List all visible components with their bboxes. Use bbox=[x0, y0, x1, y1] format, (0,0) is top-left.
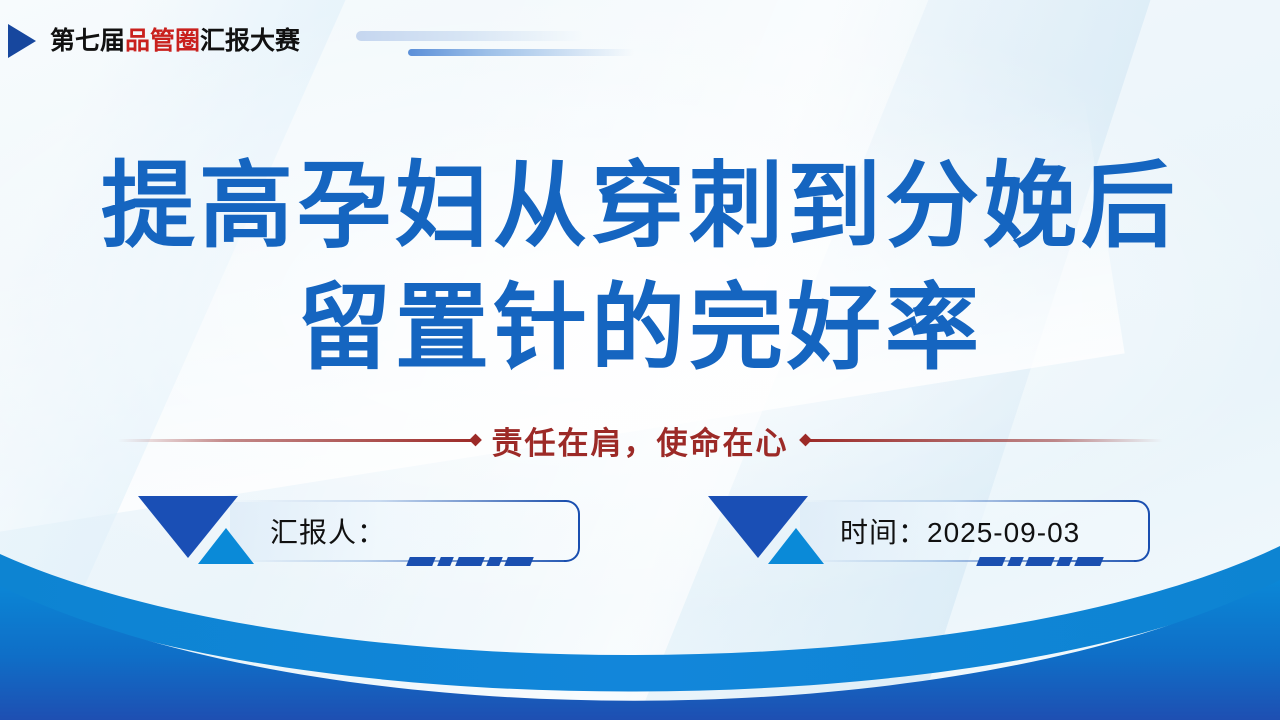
main-title-line-1: 提高孕妇从穿刺到分娩后 bbox=[0, 146, 1280, 268]
presentation-slide: 第七届品管圈汇报大赛 提高孕妇从穿刺到分娩后 留置针的完好率 责任在肩，使命在心 bbox=[0, 0, 1280, 720]
main-title: 提高孕妇从穿刺到分娩后 留置针的完好率 bbox=[0, 146, 1280, 390]
subtitle-text: 责任在肩，使命在心 bbox=[478, 418, 803, 463]
header-decor-bar-upper bbox=[356, 31, 584, 41]
header-decor-bar-lower bbox=[408, 49, 634, 56]
play-triangle-icon bbox=[8, 24, 36, 58]
bottom-wave-decoration bbox=[0, 540, 1280, 720]
header-title: 第七届品管圈汇报大赛 bbox=[50, 29, 300, 54]
header-title-prefix: 第七届 bbox=[50, 27, 125, 55]
subtitle-rule-right bbox=[803, 439, 1163, 442]
subtitle-row: 责任在肩，使命在心 bbox=[0, 418, 1280, 462]
main-title-line-2: 留置针的完好率 bbox=[0, 268, 1280, 390]
header-title-highlight: 品管圈 bbox=[125, 27, 200, 55]
subtitle-rule-left bbox=[118, 439, 478, 442]
header-title-suffix: 汇报大赛 bbox=[200, 27, 300, 55]
slide-header: 第七届品管圈汇报大赛 bbox=[0, 24, 300, 58]
